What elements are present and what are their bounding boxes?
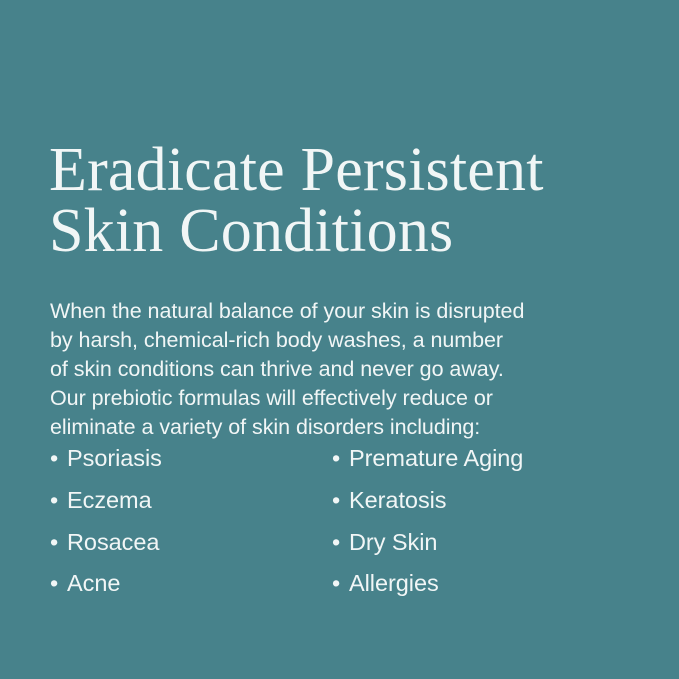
list-item: • Keratosis (332, 486, 632, 528)
condition-label: Rosacea (67, 528, 159, 556)
condition-label: Allergies (349, 569, 439, 597)
list-item: • Psoriasis (50, 444, 332, 486)
bullet-icon: • (50, 528, 67, 556)
condition-label: Keratosis (349, 486, 447, 514)
list-item: • Rosacea (50, 528, 332, 570)
bullet-icon: • (332, 444, 349, 472)
bullet-icon: • (332, 486, 349, 514)
intro-line-5: eliminate a variety of skin disorders in… (50, 413, 630, 442)
bullet-icon: • (50, 569, 67, 597)
page-title-line-2: Skin Conditions (49, 201, 629, 262)
promo-card: Eradicate Persistent Skin Conditions Whe… (0, 0, 679, 679)
list-item: • Dry Skin (332, 528, 632, 570)
list-item: • Eczema (50, 486, 332, 528)
intro-line-2: by harsh, chemical-rich body washes, a n… (50, 326, 630, 355)
list-item: • Allergies (332, 569, 632, 611)
list-item: • Acne (50, 569, 332, 611)
condition-label: Premature Aging (349, 444, 523, 472)
intro-line-3: of skin conditions can thrive and never … (50, 355, 630, 384)
page-title-line-1: Eradicate Persistent (49, 140, 629, 201)
condition-label: Psoriasis (67, 444, 162, 472)
conditions-list: • Psoriasis • Eczema • Rosacea • Acne • … (50, 444, 640, 611)
intro-paragraph: When the natural balance of your skin is… (50, 297, 630, 443)
bullet-icon: • (332, 569, 349, 597)
bullet-icon: • (332, 528, 349, 556)
condition-label: Acne (67, 569, 120, 597)
list-item: • Premature Aging (332, 444, 632, 486)
intro-line-4: Our prebiotic formulas will effectively … (50, 384, 630, 413)
bullet-icon: • (50, 444, 67, 472)
conditions-column-left: • Psoriasis • Eczema • Rosacea • Acne (50, 444, 332, 611)
page-title: Eradicate Persistent Skin Conditions (49, 140, 629, 262)
intro-line-1: When the natural balance of your skin is… (50, 297, 630, 326)
condition-label: Dry Skin (349, 528, 437, 556)
bullet-icon: • (50, 486, 67, 514)
conditions-column-right: • Premature Aging • Keratosis • Dry Skin… (332, 444, 632, 611)
condition-label: Eczema (67, 486, 152, 514)
